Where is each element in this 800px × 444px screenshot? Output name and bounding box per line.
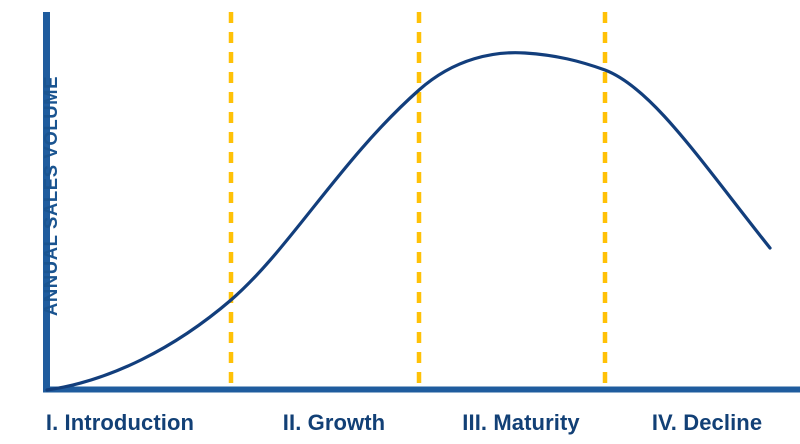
chart-canvas [0,0,800,444]
product-life-cycle-chart: ANNUAL SALES VOLUME I. Introduction II. … [0,0,800,444]
stage-label-decline: IV. Decline [614,410,800,436]
stage-label-maturity: III. Maturity [428,410,614,436]
sales-volume-curve [47,53,770,390]
stage-label-introduction: I. Introduction [0,410,240,436]
y-axis-title: ANNUAL SALES VOLUME [34,0,68,392]
stage-label-row: I. Introduction II. Growth III. Maturity… [0,402,800,444]
stage-label-growth: II. Growth [240,410,428,436]
